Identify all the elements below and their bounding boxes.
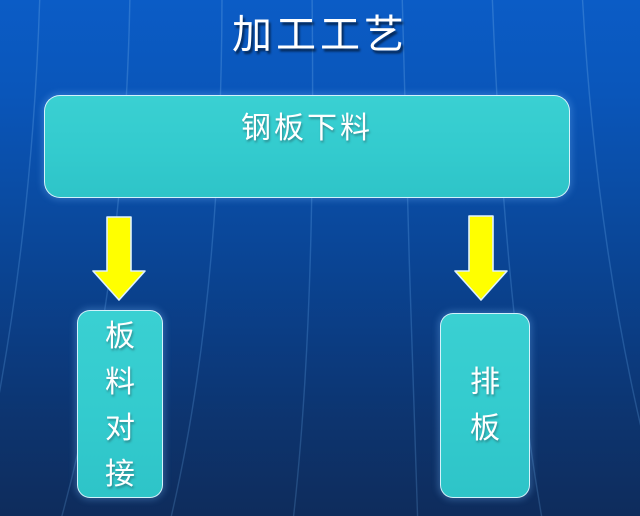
flow-node-plate-layout[interactable]: 排 板 (440, 313, 530, 498)
down-arrow-icon-right (452, 214, 510, 303)
flow-node-label: 钢板下料 (45, 96, 569, 149)
page-title: 加工工艺 (0, 8, 640, 62)
flow-node-plate-butt-joint[interactable]: 板 料 对 接 (77, 310, 163, 498)
slide-canvas: 加工工艺 钢板下料 板 料 对 接 排 板 (0, 0, 640, 516)
down-arrow-icon-left (90, 215, 148, 303)
flow-node-steel-plate-blanking[interactable]: 钢板下料 (44, 95, 570, 198)
flow-node-label: 板 料 对 接 (78, 311, 162, 497)
flow-node-label: 排 板 (441, 314, 529, 497)
